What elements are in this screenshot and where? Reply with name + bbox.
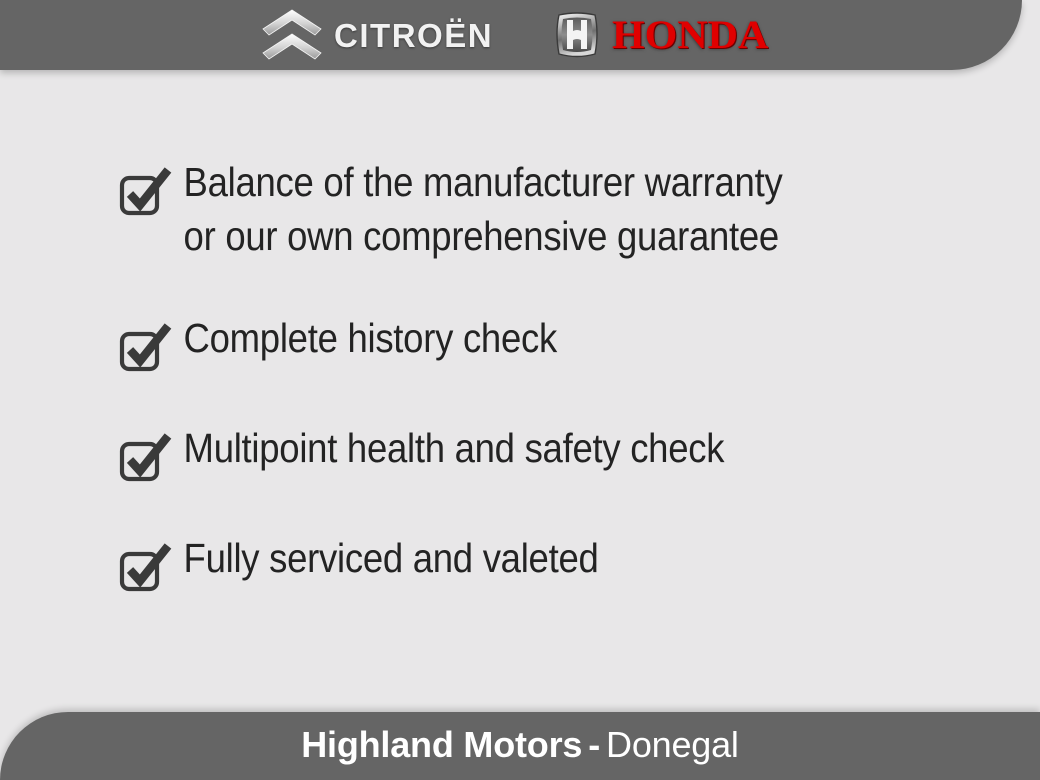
- checkbox-checked-icon: [118, 431, 174, 483]
- list-item: Fully serviced and valeted: [118, 531, 978, 593]
- citroen-wordmark: CITROËN: [334, 19, 493, 52]
- dealer-separator: -: [582, 727, 606, 763]
- dealer-location: Donegal: [606, 727, 739, 763]
- dealer-name: Highland Motors: [301, 727, 582, 763]
- feature-label: Complete history check: [180, 311, 557, 365]
- checkbox-wrap: [118, 421, 180, 483]
- footer-bar: Highland Motors - Donegal: [0, 712, 1040, 780]
- dealer-banner: Highland Motors - Donegal: [301, 727, 739, 765]
- citroen-logo: CITROËN: [261, 6, 493, 64]
- honda-h-emblem-icon: [549, 7, 605, 63]
- feature-list: Balance of the manufacturer warranty or …: [118, 155, 978, 593]
- list-item: Multipoint health and safety check: [118, 421, 978, 483]
- checkbox-checked-icon: [118, 321, 174, 373]
- checkbox-wrap: [118, 155, 180, 217]
- citroen-chevron-icon: [261, 9, 323, 61]
- honda-wordmark: HONDA: [612, 15, 768, 55]
- feature-label: Fully serviced and valeted: [180, 531, 599, 585]
- checkbox-checked-icon: [118, 165, 174, 217]
- list-item: Balance of the manufacturer warranty or …: [118, 155, 978, 263]
- feature-label: Multipoint health and safety check: [180, 421, 724, 475]
- header-bar: CITROËN: [0, 0, 1022, 70]
- honda-logo: HONDA: [549, 6, 761, 64]
- promo-slide: CITROËN: [0, 0, 1040, 780]
- brand-logo-group: CITROËN: [0, 0, 1022, 70]
- checkbox-wrap: [118, 311, 180, 373]
- list-item: Complete history check: [118, 311, 978, 373]
- checkbox-wrap: [118, 531, 180, 593]
- feature-label: Balance of the manufacturer warranty or …: [180, 155, 782, 263]
- checkbox-checked-icon: [118, 541, 174, 593]
